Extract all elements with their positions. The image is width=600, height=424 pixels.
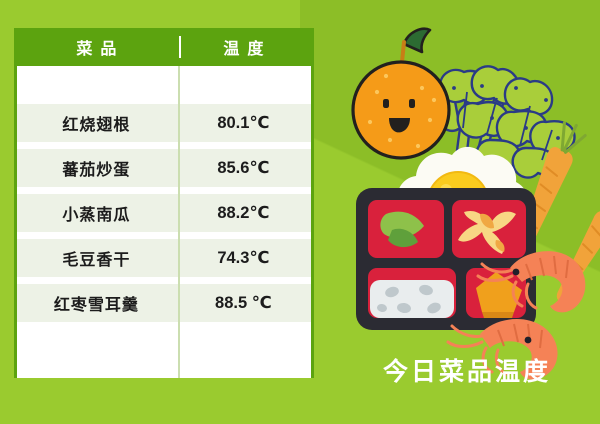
cell-dish-name: 红枣雪耳羹 [17, 291, 176, 315]
body-column-divider [178, 66, 180, 378]
cell-dish-name: 蕃茄炒蛋 [17, 156, 176, 180]
table-row: 红烧翅根 80.1℃ [17, 104, 311, 142]
table-row: 小蒸南瓜 88.2℃ [17, 194, 311, 232]
cell-temperature: 85.6℃ [176, 158, 311, 178]
column-header-dish: 菜品 [17, 35, 176, 59]
header-column-divider [179, 36, 181, 58]
table-top-spacer [17, 66, 311, 104]
cell-temperature: 88.2℃ [176, 203, 311, 223]
table-body: 红烧翅根 80.1℃ 蕃茄炒蛋 85.6℃ 小蒸南瓜 88.2℃ 毛豆香干 74… [17, 66, 311, 378]
cell-dish-name: 毛豆香干 [17, 246, 176, 270]
cell-dish-name: 红烧翅根 [17, 111, 176, 135]
poster-caption: 今日菜品温度 [352, 352, 582, 388]
column-header-temperature: 温度 [176, 35, 311, 59]
cell-temperature: 88.5 ℃ [176, 293, 311, 313]
table-row: 毛豆香干 74.3℃ [17, 239, 311, 277]
dish-temperature-table: 菜品 温度 红烧翅根 80.1℃ 蕃茄炒蛋 85.6℃ 小蒸南瓜 88.2℃ 毛… [14, 28, 314, 378]
table-header-row: 菜品 温度 [17, 28, 311, 66]
cell-temperature: 80.1℃ [176, 113, 311, 133]
cell-temperature: 74.3℃ [176, 248, 311, 268]
cell-dish-name: 小蒸南瓜 [17, 201, 176, 225]
poster-canvas: 菜品 温度 红烧翅根 80.1℃ 蕃茄炒蛋 85.6℃ 小蒸南瓜 88.2℃ 毛… [0, 0, 600, 424]
bento-box-icon [356, 188, 536, 330]
table-row: 蕃茄炒蛋 85.6℃ [17, 149, 311, 187]
orange-fruit-icon [353, 29, 449, 158]
table-row: 红枣雪耳羹 88.5 ℃ [17, 284, 311, 322]
table-bottom-spacer [17, 329, 311, 375]
